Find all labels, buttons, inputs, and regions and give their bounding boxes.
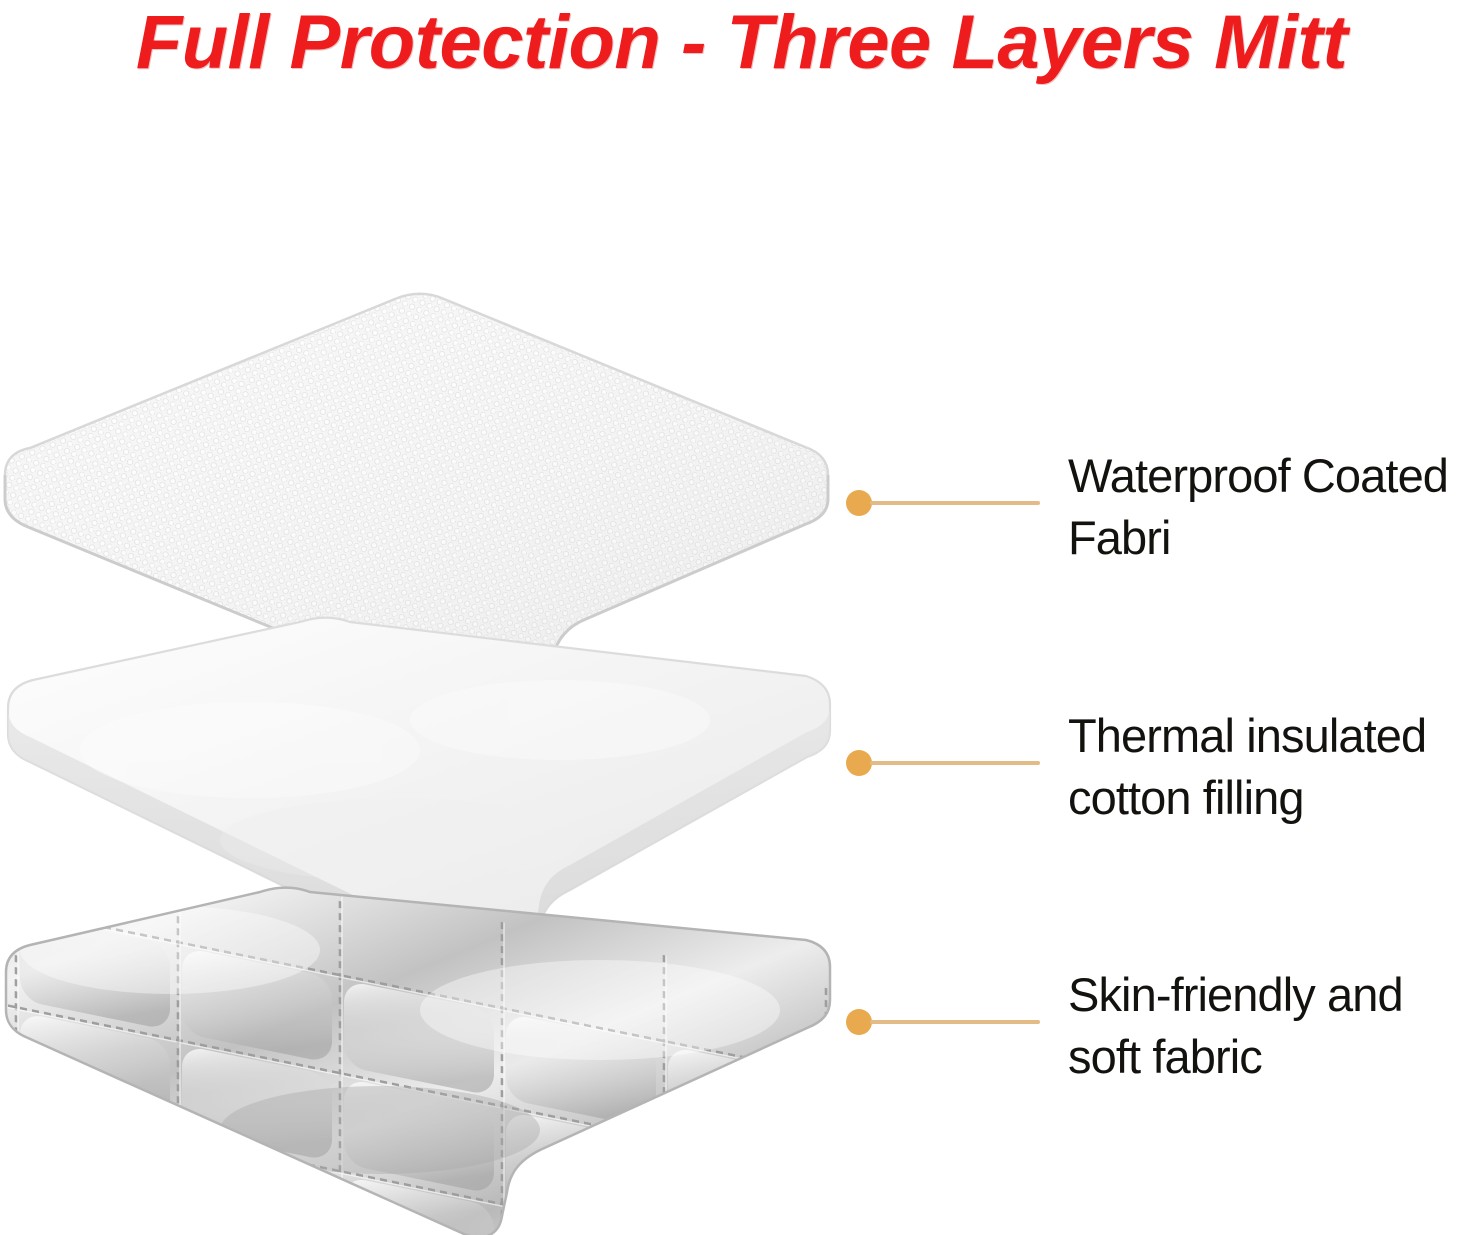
callout-label-line-2: Fabri	[1068, 507, 1483, 569]
callout-label-line-2: soft fabric	[1068, 1026, 1483, 1088]
product-infographic: Full Protection - Three Layers Mitt	[0, 0, 1483, 1235]
callout-dot-icon	[846, 1009, 872, 1035]
callout-label-line-1: Thermal insulated	[1068, 705, 1483, 767]
callout-leader-line	[870, 501, 1040, 505]
callout-label-waterproof: Waterproof Coated Fabri	[1068, 445, 1483, 569]
callout-label-skin-friendly: Skin-friendly and soft fabric	[1068, 964, 1483, 1088]
callout-leader-line	[870, 1020, 1040, 1024]
callout-dot-icon	[846, 490, 872, 516]
callout-label-line-1: Skin-friendly and	[1068, 964, 1483, 1026]
callout-leader-line	[870, 761, 1040, 765]
layer-stack-illustration	[0, 0, 850, 1235]
callout-dot-icon	[846, 750, 872, 776]
callout-label-line-2: cotton filling	[1068, 767, 1483, 829]
callout-label-line-1: Waterproof Coated	[1068, 445, 1483, 507]
skin-friendly-soft-fabric-layer	[0, 880, 850, 1235]
callout-label-thermal: Thermal insulated cotton filling	[1068, 705, 1483, 829]
